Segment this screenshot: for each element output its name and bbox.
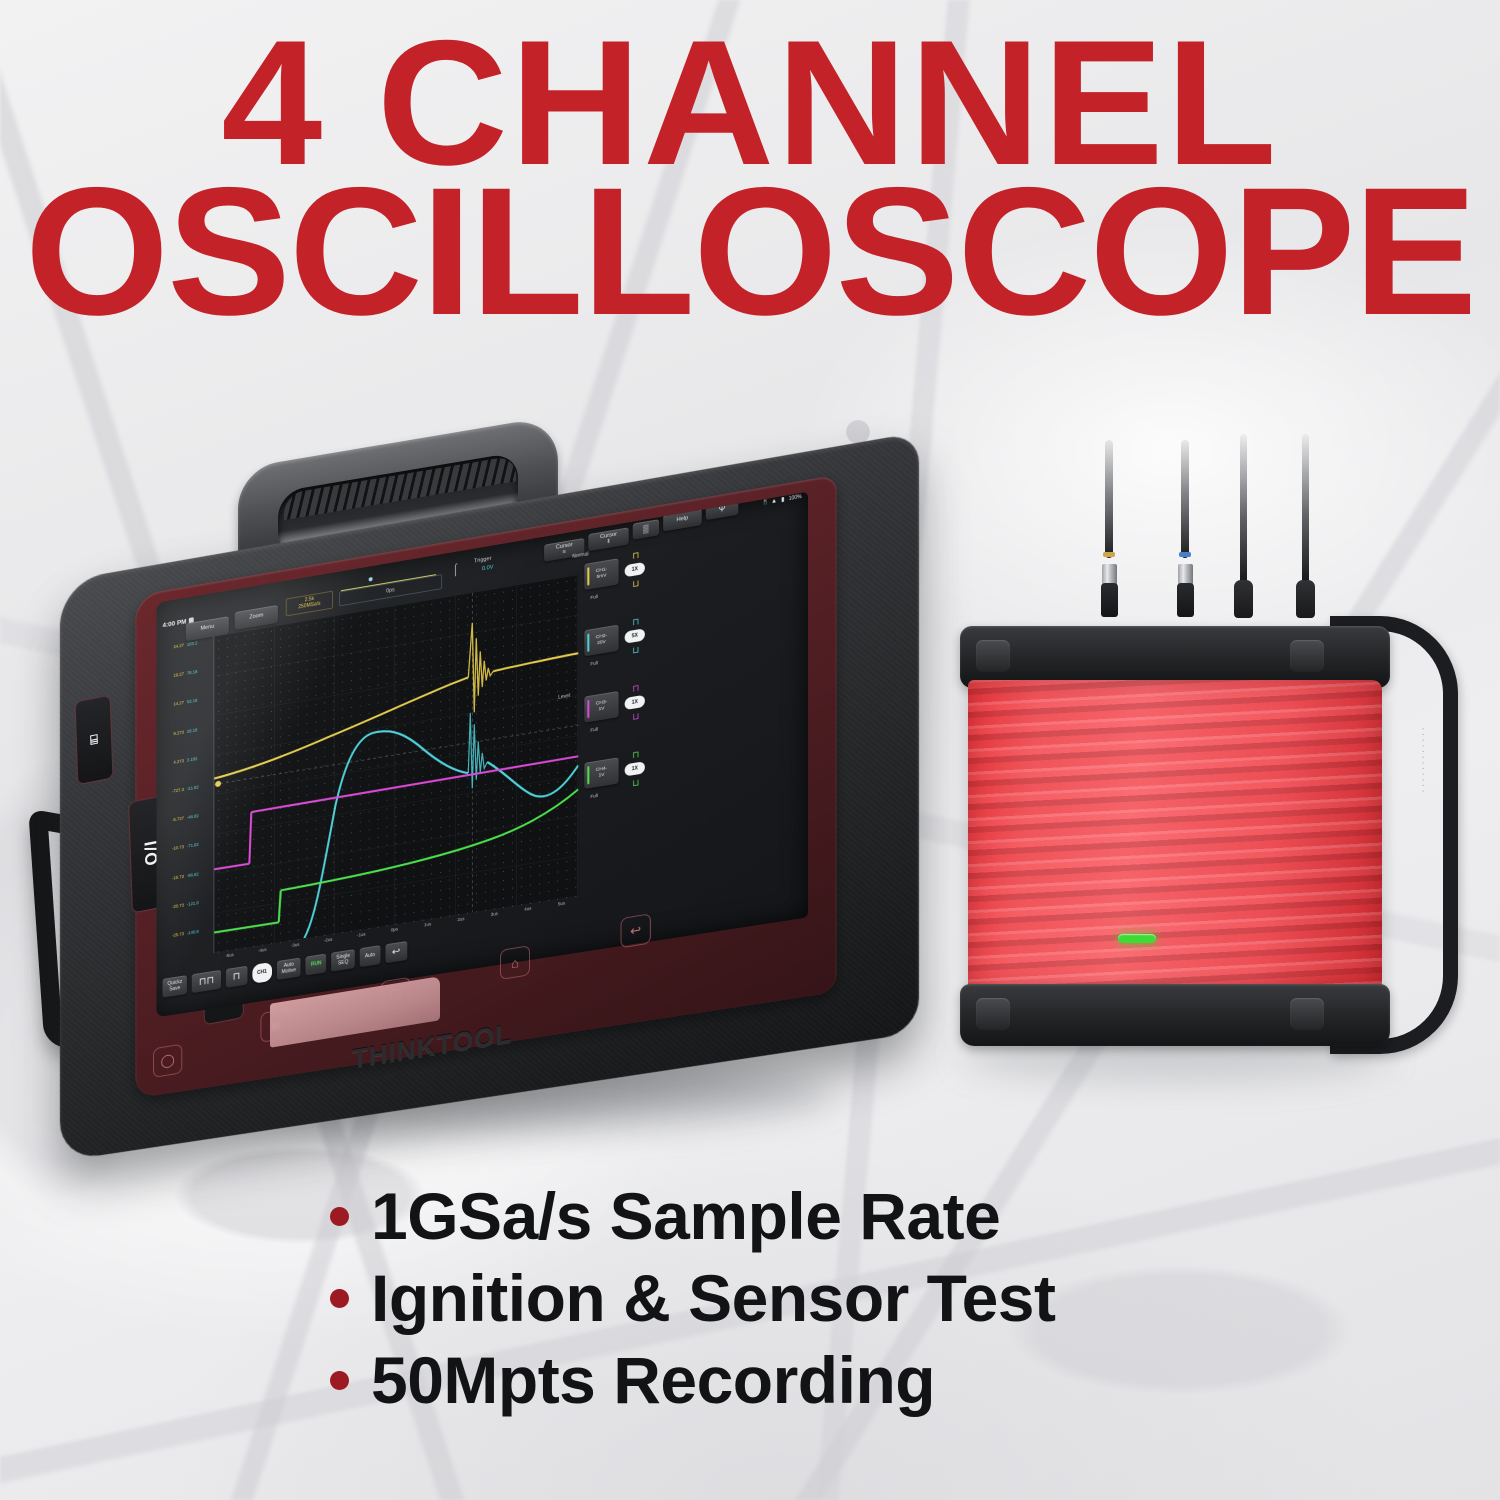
bullet-item: 50Mpts Recording (330, 1339, 1055, 1421)
ch3-scale: 1V (598, 706, 604, 713)
bluetooth-icon: ᛗ (763, 500, 767, 507)
ch3-button[interactable]: CH3- 1V (584, 691, 618, 723)
bullet-dot-icon (330, 1289, 349, 1308)
channel-controls: CH1- 5mV ⊓ 1X ⊔ Full CH2- 20V ⊓ 5X ⊔ Ful… (584, 543, 705, 829)
waveform-plot[interactable] (213, 575, 578, 953)
wifi-icon: ▲ (771, 498, 777, 505)
cursor-b-sub-icon: ‖ (607, 539, 609, 545)
headline-line-2: OSCILLOSCOPE (0, 173, 1500, 330)
y-axis-labels: 24.27103.2 19.2778.18 14.2753.18 9.27328… (161, 639, 214, 965)
ch4-baseline (214, 922, 279, 932)
home-key[interactable]: ⌂ (500, 945, 530, 980)
bottom-cap (960, 984, 1390, 1046)
oscilloscope-box: ············ (930, 440, 1490, 1080)
bumper-bottom-left (976, 998, 1010, 1030)
ch1-coupling-label: Full (590, 594, 597, 600)
bullet-label: 1GSa/s Sample Rate (371, 1178, 1000, 1254)
ch2-scale: 20V (597, 640, 606, 647)
ch4-rising-edge-icon[interactable]: ⊓ (629, 749, 643, 760)
trigger-label: Trigger (474, 556, 491, 565)
clock-text: 4:00 PM (163, 618, 187, 629)
slider-knob[interactable] (369, 577, 373, 582)
single-seq-button[interactable]: Single SEQ (331, 949, 355, 972)
sample-rate-value: 250MSa/s (298, 602, 320, 611)
bullet-item: 1GSa/s Sample Rate (330, 1175, 1055, 1257)
status-led (1118, 934, 1156, 943)
run-button[interactable]: RUN (306, 953, 327, 975)
bumper-bottom-right (1290, 998, 1324, 1030)
trigger-level-icon: ⌠ (452, 563, 459, 576)
ch3-coupling-label: Full (590, 727, 597, 733)
ch3-falling-edge-icon[interactable]: ⊔ (629, 711, 643, 722)
ch2-coupling-label: Full (590, 660, 597, 666)
headline: 4 CHANNEL OSCILLOSCOPE (0, 26, 1500, 330)
probe-ch1-boot (1101, 583, 1118, 617)
waveform-stack-icon[interactable]: ⊓⊓ (192, 970, 221, 993)
ch1-rising-edge-icon[interactable]: ⊓ (629, 550, 643, 561)
ch2-button[interactable]: CH2- 20V (584, 625, 618, 657)
probe-ch1-color-band (1103, 552, 1115, 557)
ch2-rising-edge-icon[interactable]: ⊓ (629, 617, 643, 628)
strap-embossed-text: ············ (1413, 727, 1429, 977)
bullet-item: Ignition & Sensor Test (330, 1257, 1055, 1339)
trigger-hline (214, 725, 578, 784)
sd-usb-icon: ⌸ (90, 731, 98, 748)
waveform-svg (214, 575, 578, 952)
ch3-probe-button[interactable]: 1X (625, 695, 645, 710)
battery-icon: ▮ (781, 497, 784, 504)
ch4-probe-button[interactable]: 1X (625, 761, 645, 776)
ch1-ground-marker (215, 780, 221, 787)
ch4-coupling-label: Full (590, 793, 597, 799)
memory-depth-field[interactable]: 2.5k 250MSa/s (286, 591, 333, 617)
ch4-button[interactable]: CH4- 1V (584, 757, 618, 789)
measure-glyph: Ψ (719, 505, 726, 514)
ch2-trace (304, 717, 468, 938)
probe-ch2-color-band (1179, 552, 1191, 557)
grid-glyph: ▒ (643, 525, 649, 534)
ch1-probe-button[interactable]: 1X (625, 562, 645, 577)
back-key[interactable]: ↩ (621, 913, 651, 948)
top-cap (960, 626, 1390, 688)
ch3-rising-edge-icon[interactable]: ⊓ (629, 683, 643, 694)
back-button[interactable]: ↩ (385, 941, 407, 963)
trigger-level-value[interactable]: 0.0V (482, 564, 494, 572)
bullet-dot-icon (330, 1207, 349, 1226)
feature-bullet-list: 1GSa/s Sample Rate Ignition & Sensor Tes… (330, 1175, 1055, 1421)
ch1-ringing (468, 619, 493, 713)
cursor-b-button[interactable]: Cursor ‖ (588, 527, 628, 551)
ch3-step (249, 812, 251, 864)
bullet-dot-icon (330, 1371, 349, 1390)
probe-ch2-boot (1177, 583, 1194, 617)
grid-icon[interactable]: ▒ (633, 519, 659, 540)
ch1-button[interactable]: CH1- 5mV (584, 558, 618, 590)
ch1-falling-edge-icon[interactable]: ⊔ (629, 578, 643, 589)
scope-box-body (960, 626, 1390, 1046)
cursor-a-sub-icon: ≡ (563, 550, 566, 556)
bumper-top-left (976, 640, 1010, 672)
sd-usb-port[interactable]: ⌸ (75, 695, 114, 786)
ch1-badge[interactable]: CH1 (252, 962, 272, 984)
ch4-trace (281, 789, 579, 890)
bullet-label: 50Mpts Recording (371, 1342, 935, 1418)
ch2-falling-edge-icon[interactable]: ⊔ (629, 645, 643, 656)
probe-ch4-boot (1296, 580, 1315, 618)
probe-ch1-cable (1105, 440, 1113, 558)
ch4-falling-edge-icon[interactable]: ⊔ (629, 778, 643, 789)
ch2-trace-tail (487, 747, 578, 805)
quick-save-button[interactable]: Quickz Save (163, 975, 188, 998)
ch1-scale: 5mV (596, 573, 606, 580)
square-wave-icon[interactable]: ⊓ (226, 966, 247, 988)
auto-button[interactable]: Auto (360, 945, 380, 967)
probe-ch3-cable (1240, 434, 1247, 584)
ch1-trace (214, 677, 468, 778)
thinktool-tablet: ⌸ I/O DC IN ᛗ ▲ ▮ 100% 4:00 PM Menu Zoom… (52, 430, 932, 1110)
bumper-top-right (1290, 640, 1324, 672)
bullet-label: Ignition & Sensor Test (371, 1260, 1055, 1336)
battery-percent: 100% (789, 494, 802, 502)
probe-ch4-cable (1302, 434, 1309, 584)
auto-motive-button[interactable]: Auto Motive (277, 957, 301, 980)
ch1-trace-tail (493, 653, 578, 671)
ch4-step (279, 890, 281, 922)
ch4-scale: 1V (598, 773, 604, 779)
power-key[interactable]: ◯ (153, 1044, 182, 1078)
ch2-probe-button[interactable]: 5X (625, 628, 645, 643)
ch3-trace (251, 756, 578, 812)
ribbed-red-housing (968, 680, 1382, 992)
ch3-baseline (214, 864, 249, 870)
probe-ch2-cable (1181, 440, 1189, 558)
probe-ch3-boot (1234, 580, 1253, 618)
ch2-spike (468, 710, 487, 789)
